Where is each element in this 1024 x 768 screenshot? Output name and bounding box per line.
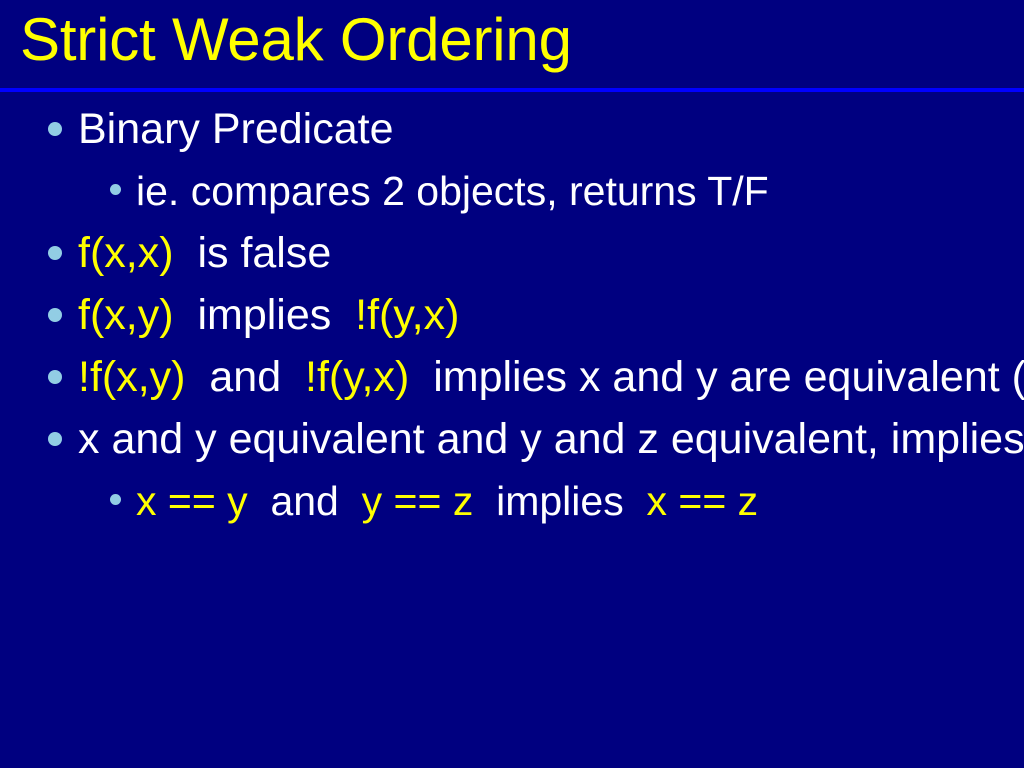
- bullet-dot-icon: [48, 432, 62, 446]
- bullet-item-level1: f(x,y) implies !f(y,x): [0, 284, 1024, 346]
- bullet-text-highlight: x == y: [136, 478, 248, 524]
- presentation-slide: Strict Weak Ordering Binary Predicateie.…: [0, 0, 1024, 768]
- bullet-dot-icon: [48, 308, 62, 322]
- bullet-text-highlight: x == z: [646, 478, 758, 524]
- bullet-text-plain: and: [248, 478, 362, 524]
- bullet-text: !f(x,y) and !f(y,x) implies x and y are …: [78, 346, 1004, 408]
- bullet-text-highlight: y == z: [362, 478, 474, 524]
- bullet-text-highlight: !f(y,x): [355, 291, 459, 339]
- bullet-dot-icon: [110, 494, 121, 505]
- bullet-text-highlight: !f(y,x): [305, 353, 409, 401]
- bullet-item-level1: f(x,x) is false: [0, 222, 1024, 284]
- bullet-text-plain: is false: [174, 229, 332, 277]
- bullet-text: ie. compares 2 objects, returns T/F: [136, 160, 1004, 222]
- bullet-dot-icon: [48, 370, 62, 384]
- bullet-text-highlight: !f(x,y): [78, 353, 185, 401]
- bullet-item-level2: ie. compares 2 objects, returns T/F: [0, 160, 1024, 222]
- bullet-text: x == y and y == z implies x == z: [136, 470, 1004, 532]
- bullet-dot-icon: [48, 246, 62, 260]
- page-title: Strict Weak Ordering: [20, 2, 572, 78]
- bullet-text: f(x,x) is false: [78, 222, 1004, 284]
- bullet-text-plain: x and y equivalent and y and z equivalen…: [78, 415, 1024, 463]
- bullet-text: x and y equivalent and y and z equivalen…: [78, 408, 1004, 470]
- bullet-item-level1: x and y equivalent and y and z equivalen…: [0, 408, 1024, 470]
- bullet-text-plain: implies: [473, 478, 646, 524]
- bullet-text-highlight: f(x,y): [78, 291, 174, 339]
- title-divider-rule: [0, 88, 1024, 92]
- bullet-text-plain: ie. compares 2 objects, returns T/F: [136, 168, 769, 214]
- bullet-item-level1: !f(x,y) and !f(y,x) implies x and y are …: [0, 346, 1024, 408]
- bullet-text-highlight: f(x,x): [78, 229, 174, 277]
- slide-body: Binary Predicateie. compares 2 objects, …: [0, 98, 1024, 532]
- bullet-text-plain: Binary Predicate: [78, 105, 394, 153]
- bullet-text: f(x,y) implies !f(y,x): [78, 284, 1004, 346]
- slide-title-area: Strict Weak Ordering: [0, 0, 1024, 88]
- bullet-text-plain: implies: [174, 291, 356, 339]
- bullet-text-plain: implies x and y are equivalent (: [409, 353, 1024, 401]
- bullet-text: Binary Predicate: [78, 98, 1004, 160]
- bullet-item-level2: x == y and y == z implies x == z: [0, 470, 1024, 532]
- bullet-item-level1: Binary Predicate: [0, 98, 1024, 160]
- bullet-text-plain: and: [185, 353, 305, 401]
- bullet-dot-icon: [48, 122, 62, 136]
- bullet-dot-icon: [110, 184, 121, 195]
